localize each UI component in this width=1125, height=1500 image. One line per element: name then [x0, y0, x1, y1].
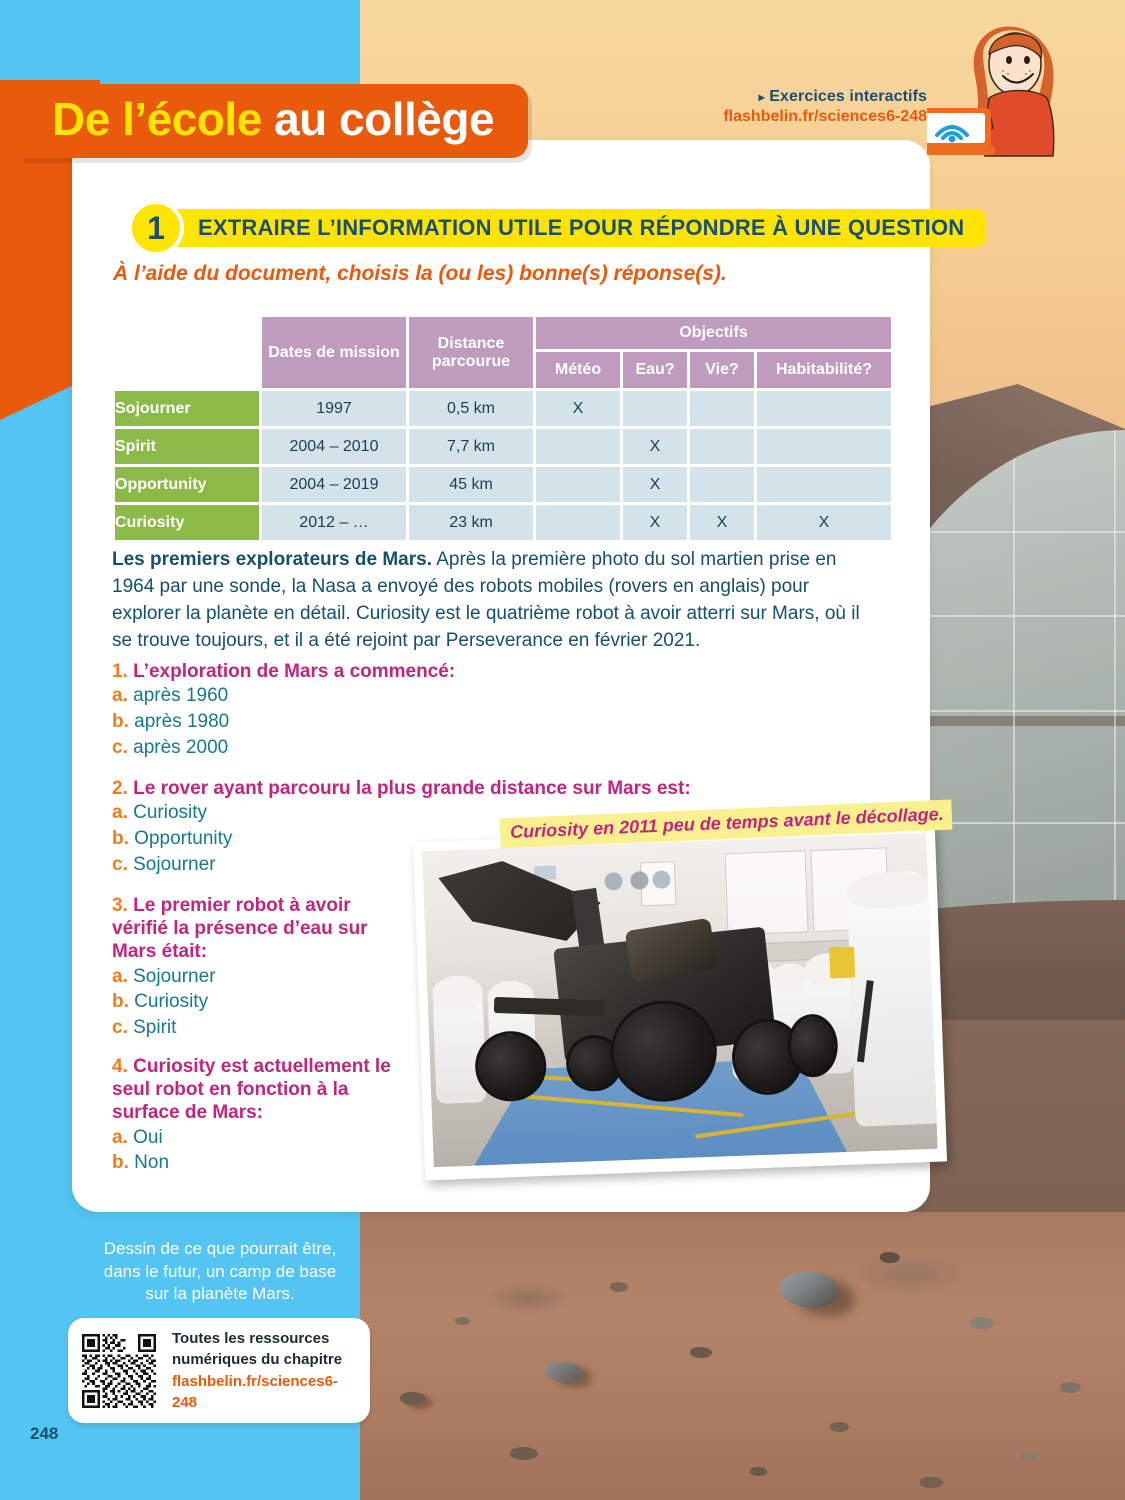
row-label-spirit: Spirit — [115, 429, 259, 464]
cell-curiosity-hab: X — [757, 505, 891, 540]
cell-sojourner-distance: 0,5 km — [409, 391, 533, 426]
qr-card-text: Toutes les ressources numériques du chap… — [172, 1328, 356, 1413]
qr-line-1: Toutes les ressources — [172, 1328, 356, 1349]
option-text: Spirit — [128, 1017, 177, 1038]
question-2-title: 2. Le rover ayant parcouru la plus grand… — [112, 777, 732, 800]
question-3-title: 3. Le premier robot à avoir vérifié la p… — [112, 894, 402, 964]
table-row: Opportunity 2004 – 2019 45 km X — [115, 467, 891, 502]
option-letter: b. — [112, 1152, 129, 1173]
column-header-dates: Dates de mission — [262, 317, 406, 388]
option-letter: a. — [112, 802, 128, 823]
student-with-laptop-illustration — [927, 24, 1097, 164]
option-letter: b. — [112, 828, 129, 849]
cell-spirit-eau: X — [623, 429, 687, 464]
question-3-option-b[interactable]: b. Curiosity — [112, 990, 402, 1015]
option-text: Sojourner — [128, 966, 216, 987]
question-2-text: Le rover ayant parcouru la plus grande d… — [128, 778, 691, 799]
qr-line-2: numériques du chapitre — [172, 1349, 356, 1370]
option-letter: c. — [112, 1017, 128, 1038]
cell-curiosity-vie: X — [690, 505, 754, 540]
cell-spirit-meteo — [536, 429, 620, 464]
page-title-part2: au collège — [274, 93, 494, 145]
option-text: Curiosity — [128, 802, 207, 823]
page-number: 248 — [30, 1424, 58, 1444]
curiosity-photo-image — [422, 833, 937, 1167]
interactive-exercises-block[interactable]: ▸ Exercices interactifs flashbelin.fr/sc… — [723, 88, 927, 126]
cell-spirit-vie — [690, 429, 754, 464]
cell-opportunity-vie — [690, 467, 754, 502]
question-3-option-a[interactable]: a. Sojourner — [112, 965, 402, 990]
question-4-option-a[interactable]: a. Oui — [112, 1126, 402, 1151]
table-header-row-1: Dates de mission Distance parcourue Obje… — [115, 317, 891, 349]
option-text: après 2000 — [128, 737, 228, 758]
column-header-eau: Eau? — [623, 352, 687, 388]
option-letter: a. — [112, 1127, 128, 1148]
interactive-exercises-url[interactable]: flashbelin.fr/sciences6-248 — [723, 108, 927, 126]
option-letter: c. — [112, 854, 128, 875]
activity-instruction: À l’aide du document, choisis la (ou les… — [113, 262, 727, 286]
question-4-number: 4. — [112, 1056, 128, 1077]
cell-sojourner-eau — [623, 391, 687, 426]
illustration-caption: Dessin de ce que pourrait être, dans le … — [90, 1238, 350, 1306]
option-text: Non — [129, 1152, 169, 1173]
option-text: Opportunity — [129, 828, 233, 849]
cell-opportunity-eau: X — [623, 467, 687, 502]
option-letter: b. — [112, 991, 129, 1012]
page-title-part1: De l’école — [52, 93, 262, 145]
qr-resources-card[interactable]: Toutes les ressources numériques du chap… — [68, 1318, 370, 1423]
cell-spirit-distance: 7,7 km — [409, 429, 533, 464]
activity-heading-row: 1 EXTRAIRE L’INFORMATION UTILE POUR RÉPO… — [128, 200, 986, 256]
page-title-banner: De l’école au collège — [20, 84, 528, 158]
table-corner-cell — [115, 317, 259, 388]
option-text: Curiosity — [129, 991, 208, 1012]
rover-boom — [493, 997, 604, 1016]
cell-sojourner-vie — [690, 391, 754, 426]
column-header-distance: Distance parcourue — [409, 317, 533, 388]
cell-sojourner-hab — [757, 391, 891, 426]
table-row: Spirit 2004 – 2010 7,7 km X — [115, 429, 891, 464]
table-row: Curiosity 2012 – … 23 km X X X — [115, 505, 891, 540]
question-1-title: 1. L’exploration de Mars a commencé: — [112, 660, 732, 683]
document-paragraph: Les premiers explorateurs de Mars. Après… — [112, 546, 882, 655]
cell-opportunity-meteo — [536, 467, 620, 502]
textbook-page: De l’école au collège ▸ Exercices intera… — [0, 0, 1125, 1500]
option-letter: a. — [112, 966, 128, 987]
row-label-curiosity: Curiosity — [115, 505, 259, 540]
column-header-habitabilite: Habitabilité? — [757, 352, 891, 388]
question-1-option-b[interactable]: b. après 1980 — [112, 710, 732, 735]
question-4: 4. Curiosity est actuellement le seul ro… — [112, 1055, 402, 1176]
triangle-bullet-icon: ▸ — [759, 90, 765, 104]
question-3-number: 3. — [112, 895, 128, 916]
column-header-meteo: Météo — [536, 352, 620, 388]
interactive-exercises-label-row: ▸ Exercices interactifs — [723, 88, 927, 106]
cell-curiosity-dates: 2012 – … — [262, 505, 406, 540]
cell-curiosity-distance: 23 km — [409, 505, 533, 540]
curiosity-photo — [413, 824, 947, 1181]
technician — [432, 976, 487, 1104]
cell-curiosity-eau: X — [623, 505, 687, 540]
activity-heading: EXTRAIRE L’INFORMATION UTILE POUR RÉPOND… — [170, 209, 986, 247]
technician-foreground — [847, 871, 938, 1127]
column-header-vie: Vie? — [690, 352, 754, 388]
question-1-text: L’exploration de Mars a commencé: — [128, 661, 455, 682]
question-1: 1. L’exploration de Mars a commencé: a. … — [112, 660, 732, 760]
qr-code-icon[interactable] — [82, 1334, 156, 1408]
column-group-header-objectifs: Objectifs — [536, 317, 891, 349]
option-letter: c. — [112, 737, 128, 758]
question-4-option-b[interactable]: b. Non — [112, 1151, 402, 1176]
yellow-tag — [829, 946, 855, 978]
missions-table: Dates de mission Distance parcourue Obje… — [112, 314, 894, 543]
surface-rock — [780, 1272, 838, 1308]
option-text: Oui — [128, 1127, 163, 1148]
cell-sojourner-meteo: X — [536, 391, 620, 426]
cell-sojourner-dates: 1997 — [262, 391, 406, 426]
question-2-number: 2. — [112, 778, 128, 799]
surface-rock — [545, 1362, 581, 1382]
cell-spirit-dates: 2004 – 2010 — [262, 429, 406, 464]
question-4-text: Curiosity est actuellement le seul robot… — [112, 1056, 391, 1123]
row-label-opportunity: Opportunity — [115, 467, 259, 502]
mars-surface-photo — [360, 1212, 1125, 1500]
question-1-option-c[interactable]: c. après 2000 — [112, 736, 732, 761]
option-letter: a. — [112, 685, 128, 706]
cell-spirit-hab — [757, 429, 891, 464]
table-body: Sojourner 1997 0,5 km X Spirit 2004 – 20… — [115, 391, 891, 540]
option-letter: b. — [112, 711, 129, 732]
option-text: Sojourner — [128, 854, 216, 875]
question-1-option-a[interactable]: a. après 1960 — [112, 684, 732, 709]
question-3-text: Le premier robot à avoir vérifié la prés… — [112, 895, 368, 962]
row-label-sojourner: Sojourner — [115, 391, 259, 426]
cell-curiosity-meteo — [536, 505, 620, 540]
question-3: 3. Le premier robot à avoir vérifié la p… — [112, 894, 402, 1041]
cell-opportunity-distance: 45 km — [409, 467, 533, 502]
option-text: après 1960 — [128, 685, 228, 706]
paragraph-lead: Les premiers explorateurs de Mars. — [112, 549, 432, 570]
interactive-exercises-label: Exercices interactifs — [769, 88, 927, 105]
activity-number-badge: 1 — [128, 200, 184, 256]
cell-opportunity-dates: 2004 – 2019 — [262, 467, 406, 502]
qr-link[interactable]: flashbelin.fr/sciences6-248 — [172, 1371, 356, 1414]
question-4-title: 4. Curiosity est actuellement le seul ro… — [112, 1055, 402, 1125]
option-text: après 1980 — [129, 711, 229, 732]
cell-opportunity-hab — [757, 467, 891, 502]
question-3-option-c[interactable]: c. Spirit — [112, 1016, 402, 1041]
question-1-number: 1. — [112, 661, 128, 682]
table-row: Sojourner 1997 0,5 km X — [115, 391, 891, 426]
